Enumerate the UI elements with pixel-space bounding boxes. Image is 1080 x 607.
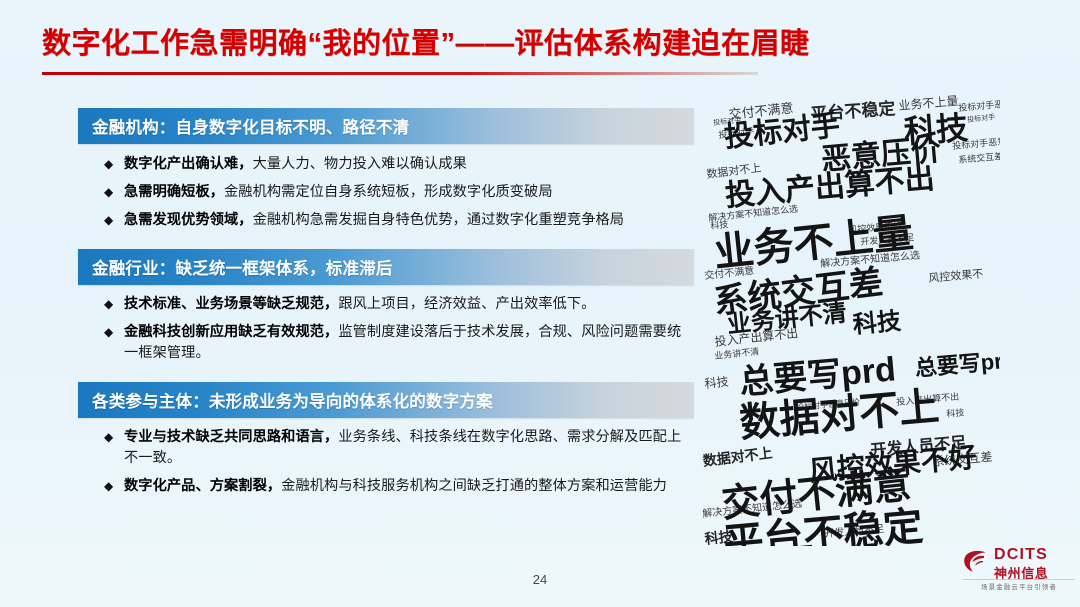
wordcloud-word: 科技: [710, 220, 729, 231]
section-header-label: 金融行业：缺乏统一框架体系，标准滞后: [78, 255, 393, 279]
wordcloud-word: 业务讲不清: [714, 347, 760, 361]
wordcloud-word: 业务不上量: [898, 95, 959, 112]
wordcloud-word: 业务不上量: [712, 213, 915, 274]
section-header-bar: 各类参与主体：未形成业务为导向的体系化的数字方案: [78, 382, 694, 418]
logo-tagline: 场景金融云平台引领者: [963, 581, 1075, 591]
list-item: ◆ 数字化产品、方案割裂，金融机构与科技服务机构之间缺乏打通的整体方案和运营能力: [78, 476, 694, 497]
list-item: ◆ 数字化产出确认难，大量人力、物力投入难以确认成果: [78, 154, 694, 175]
list-item-lead: 数字化产出确认难，: [124, 156, 253, 172]
company-logo: DCITS 神州信息 场景金融云平台引领者: [963, 545, 1075, 597]
diamond-bullet-icon: ◆: [104, 294, 124, 315]
list-item: ◆ 专业与技术缺乏共同思路和语言，业务条线、科技条线在数字化思路、需求分解及匹配…: [78, 427, 694, 469]
diamond-bullet-icon: ◆: [104, 182, 124, 203]
list-item-rest: 大量人力、物力投入难以确认成果: [253, 156, 467, 172]
list-item-rest: 跟风上项目，经济效益、产出效率低下。: [338, 296, 595, 312]
wordcloud-word: 数据对不上: [702, 445, 773, 467]
list-item: ◆ 技术标准、业务场景等缺乏规范，跟风上项目，经济效益、产出效率低下。: [78, 294, 694, 315]
bullet-list: ◆ 专业与技术缺乏共同思路和语言，业务条线、科技条线在数字化思路、需求分解及匹配…: [78, 418, 694, 497]
list-item-text: 急需明确短板，金融机构需定位自身系统短板，形成数字化质变破局: [124, 182, 694, 203]
logo-divider: [963, 579, 1075, 580]
content-column: 金融机构：自身数字化目标不明、路径不清 ◆ 数字化产出确认难，大量人力、物力投入…: [78, 108, 694, 509]
list-item-rest: 金融机构与科技服务机构之间缺乏打通的整体方案和运营能力: [281, 478, 667, 494]
list-item-rest: 金融机构需定位自身系统短板，形成数字化质变破局: [224, 184, 553, 200]
section-header-bar: 金融行业：缺乏统一框架体系，标准滞后: [78, 249, 694, 285]
diamond-bullet-icon: ◆: [104, 210, 124, 231]
diamond-bullet-icon: ◆: [104, 154, 124, 175]
bullet-list: ◆ 技术标准、业务场景等缺乏规范，跟风上项目，经济效益、产出效率低下。 ◆ 金融…: [78, 285, 694, 364]
section-header-label: 各类参与主体：未形成业务为导向的体系化的数字方案: [78, 388, 493, 412]
wordcloud-word: 科技: [903, 112, 969, 148]
list-item-text: 数字化产出确认难，大量人力、物力投入难以确认成果: [124, 154, 694, 175]
list-item-text: 金融科技创新应用缺乏有效规范，监管制度建设落后于技术发展，合规、风险问题需要统一…: [124, 322, 694, 364]
list-item-text: 数字化产品、方案割裂，金融机构与科技服务机构之间缺乏打通的整体方案和运营能力: [124, 476, 694, 497]
list-item-text: 专业与技术缺乏共同思路和语言，业务条线、科技条线在数字化思路、需求分解及匹配上不…: [124, 427, 694, 469]
page-number: 24: [0, 572, 1080, 587]
title-underline-rule: [42, 72, 758, 75]
list-item: ◆ 急需明确短板，金融机构需定位自身系统短板，形成数字化质变破局: [78, 182, 694, 203]
list-item-rest: 金融机构急需发掘自身特色优势，通过数字化重塑竞争格局: [253, 212, 624, 228]
wordcloud-word: 科技: [946, 408, 965, 419]
wordcloud-panel: 交付不满意平台不稳定业务不上量投标对手恶意压价投标对手投标对手投标对手科技投标对…: [700, 86, 1000, 546]
wordcloud-word: 科技: [852, 310, 902, 338]
wordcloud-canvas: 交付不满意平台不稳定业务不上量投标对手恶意压价投标对手投标对手投标对手科技投标对…: [700, 86, 1000, 546]
wordcloud-word: 风控效果不: [928, 269, 984, 285]
logo-brand-text: DCITS: [994, 546, 1048, 564]
diamond-bullet-icon: ◆: [104, 427, 124, 448]
section-financial-industry: 金融行业：缺乏统一框架体系，标准滞后 ◆ 技术标准、业务场景等缺乏规范，跟风上项…: [78, 249, 694, 364]
diamond-bullet-icon: ◆: [104, 322, 124, 343]
bullet-list: ◆ 数字化产出确认难，大量人力、物力投入难以确认成果 ◆ 急需明确短板，金融机构…: [78, 144, 694, 231]
wordcloud-word: 投标对手: [967, 114, 996, 124]
swoosh-icon: [963, 549, 989, 573]
list-item: ◆ 急需发现优势领域，金融机构急需发掘自身特色优势，通过数字化重塑竞争格局: [78, 210, 694, 231]
section-participants: 各类参与主体：未形成业务为导向的体系化的数字方案 ◆ 专业与技术缺乏共同思路和语…: [78, 382, 694, 497]
list-item-lead: 金融科技创新应用缺乏有效规范，: [124, 324, 338, 340]
list-item-lead: 数字化产品、方案割裂，: [124, 478, 281, 494]
wordcloud-word: 系统交互差: [958, 152, 1000, 165]
list-item-text: 技术标准、业务场景等缺乏规范，跟风上项目，经济效益、产出效率低下。: [124, 294, 694, 315]
list-item-lead: 急需明确短板，: [124, 184, 224, 200]
list-item-lead: 急需发现优势领域，: [124, 212, 253, 228]
list-item-lead: 专业与技术缺乏共同思路和语言，: [124, 429, 338, 445]
page-title: 数字化工作急需明确“我的位置”——评估体系构建迫在眉睫: [42, 22, 810, 66]
section-financial-institutions: 金融机构：自身数字化目标不明、路径不清 ◆ 数字化产出确认难，大量人力、物力投入…: [78, 108, 694, 231]
diamond-bullet-icon: ◆: [104, 476, 124, 497]
wordcloud-word: 科技: [704, 375, 729, 389]
section-header-bar: 金融机构：自身数字化目标不明、路径不清: [78, 108, 694, 144]
list-item-lead: 技术标准、业务场景等缺乏规范，: [124, 296, 338, 312]
wordcloud-word: 总要写prd: [914, 349, 1000, 380]
slide-canvas: 数字化工作急需明确“我的位置”——评估体系构建迫在眉睫 金融机构：自身数字化目标…: [0, 0, 1080, 607]
section-header-label: 金融机构：自身数字化目标不明、路径不清: [78, 114, 409, 138]
title-bar: 数字化工作急需明确“我的位置”——评估体系构建迫在眉睫: [0, 22, 1080, 74]
list-item: ◆ 金融科技创新应用缺乏有效规范，监管制度建设落后于技术发展，合规、风险问题需要…: [78, 322, 694, 364]
list-item-text: 急需发现优势领域，金融机构急需发掘自身特色优势，通过数字化重塑竞争格局: [124, 210, 694, 231]
